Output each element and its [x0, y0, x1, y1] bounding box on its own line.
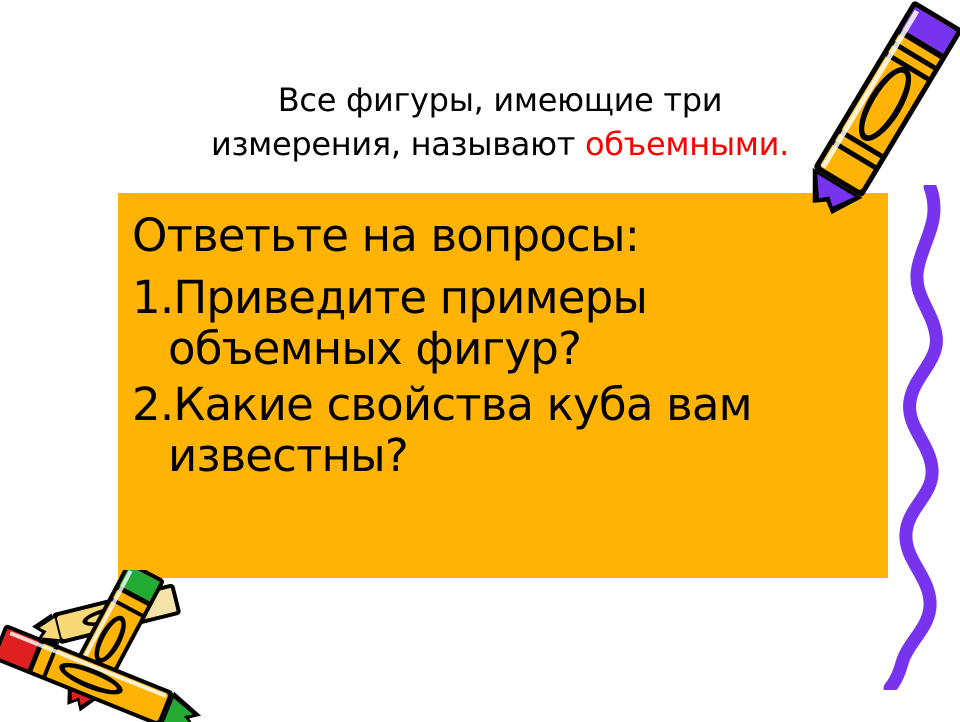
crayon-yellow-purple-icon	[795, 0, 960, 228]
heading-line-1: Все фигуры, имеющие три	[130, 78, 870, 122]
slide-canvas: Все фигуры, имеющие три измерения, назыв…	[0, 0, 960, 720]
slide-heading: Все фигуры, имеющие три измерения, назыв…	[130, 78, 870, 166]
heading-line-2: измерения, называют объемными.	[130, 122, 870, 166]
question-item-2-line-1: 2.Какие свойства куба вам	[132, 380, 878, 430]
question-item-2-line-2: известны?	[132, 431, 878, 481]
questions-panel: Ответьте на вопросы: 1.Приведите примеры…	[118, 193, 888, 578]
heading-line-2-prefix: измерения, называют	[211, 125, 585, 163]
purple-squiggle-icon	[880, 185, 960, 690]
question-item-1-line-1: 1.Приведите примеры	[132, 273, 878, 323]
heading-highlight-term: объемными.	[585, 125, 789, 163]
questions-title: Ответьте на вопросы:	[132, 211, 878, 261]
crayons-cluster-icon	[0, 570, 236, 722]
question-item-1-line-2: объемных фигур?	[132, 324, 878, 374]
